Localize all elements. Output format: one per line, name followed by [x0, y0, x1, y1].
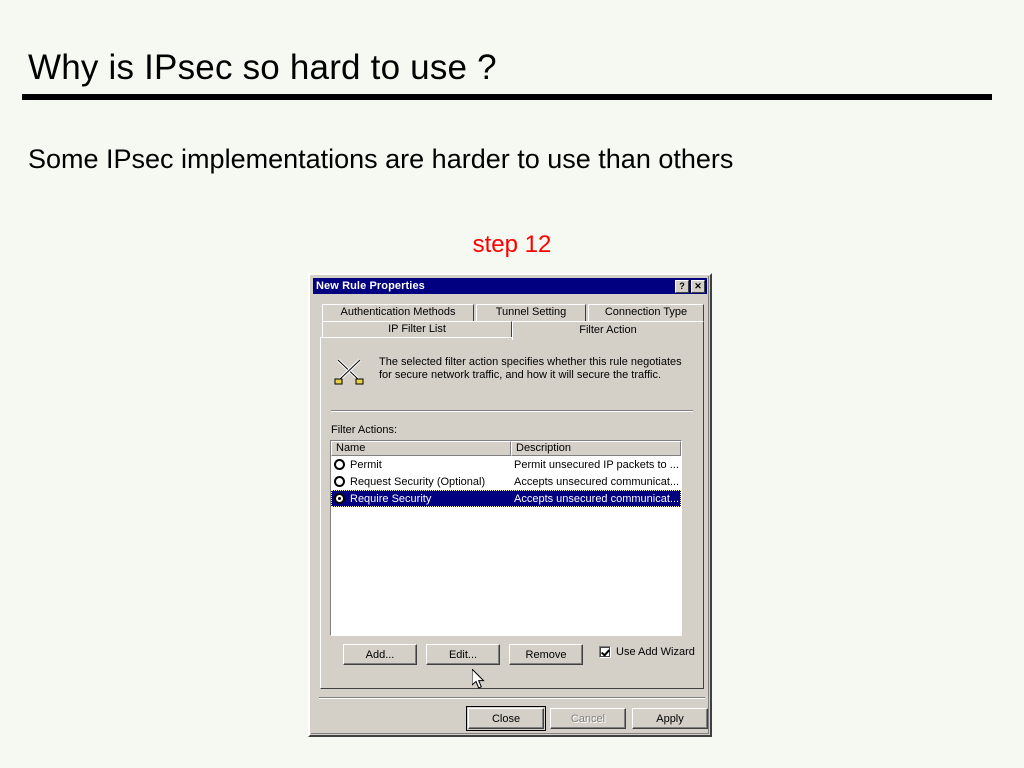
- tab-label: Connection Type: [605, 306, 687, 318]
- tab-filter-action[interactable]: Filter Action: [512, 321, 704, 340]
- description-text: The selected filter action specifies whe…: [379, 356, 682, 382]
- tab-label: IP Filter List: [388, 323, 446, 335]
- row-name-label: Request Security (Optional): [350, 476, 485, 488]
- description-area: The selected filter action specifies whe…: [333, 356, 693, 388]
- title-divider: [22, 94, 992, 100]
- cancel-button: Cancel: [550, 708, 626, 729]
- edit-button[interactable]: Edit...: [426, 644, 500, 665]
- row-name-cell: Require Security: [331, 493, 511, 505]
- row-name-label: Permit: [350, 459, 382, 471]
- checkbox-icon[interactable]: [599, 646, 611, 658]
- tab-ip-filter-list[interactable]: IP Filter List: [322, 321, 512, 338]
- row-name-cell: Request Security (Optional): [331, 476, 511, 488]
- tab-label: Tunnel Setting: [496, 306, 567, 318]
- description-line-1: The selected filter action specifies whe…: [379, 356, 682, 369]
- slide-subtitle: Some IPsec implementations are harder to…: [28, 144, 733, 175]
- table-row[interactable]: Request Security (Optional) Accepts unse…: [331, 473, 681, 490]
- tab-tunnel-setting[interactable]: Tunnel Setting: [476, 304, 586, 321]
- filter-actions-label: Filter Actions:: [331, 424, 397, 436]
- step-caption: step 12: [0, 231, 1024, 259]
- filter-action-tab-page: The selected filter action specifies whe…: [320, 337, 704, 689]
- column-header-name[interactable]: Name: [331, 441, 511, 456]
- tab-connection-type[interactable]: Connection Type: [588, 304, 704, 321]
- use-add-wizard-label: Use Add Wizard: [616, 646, 695, 658]
- remove-button[interactable]: Remove: [509, 644, 583, 665]
- page-title: Why is IPsec so hard to use ?: [28, 48, 497, 88]
- help-icon[interactable]: ?: [675, 280, 689, 293]
- add-button[interactable]: Add...: [343, 644, 417, 665]
- description-line-2: for secure network traffic, and how it w…: [379, 369, 682, 382]
- new-rule-properties-dialog: New Rule Properties ? ✕ Authentication M…: [308, 273, 712, 737]
- row-name-cell: Permit: [331, 459, 511, 471]
- filter-actions-listview[interactable]: Name Description Permit Permit unsecured…: [330, 440, 682, 636]
- listview-header: Name Description: [331, 441, 681, 456]
- dialog-footer-divider: [319, 697, 705, 699]
- close-button[interactable]: Close: [468, 708, 544, 729]
- table-row[interactable]: Require Security Accepts unsecured commu…: [331, 490, 681, 507]
- dialog-titlebar[interactable]: New Rule Properties ? ✕: [313, 278, 707, 294]
- tab-label: Filter Action: [579, 324, 636, 336]
- row-name-label: Require Security: [350, 493, 431, 505]
- radio-icon[interactable]: [334, 476, 345, 487]
- close-icon[interactable]: ✕: [691, 280, 705, 293]
- row-description-cell: Permit unsecured IP packets to ...: [511, 459, 681, 471]
- radio-icon[interactable]: [334, 459, 345, 470]
- dialog-title-text: New Rule Properties: [316, 280, 673, 292]
- row-description-cell: Accepts unsecured communicat...: [511, 493, 681, 505]
- crossed-swords-icon: [333, 356, 365, 388]
- apply-button[interactable]: Apply: [632, 708, 708, 729]
- radio-icon[interactable]: [334, 493, 345, 504]
- column-header-description[interactable]: Description: [511, 441, 681, 456]
- tab-label: Authentication Methods: [341, 306, 456, 318]
- tab-strip: Authentication Methods Tunnel Setting Co…: [320, 304, 704, 338]
- table-row[interactable]: Permit Permit unsecured IP packets to ..…: [331, 456, 681, 473]
- row-description-cell: Accepts unsecured communicat...: [511, 476, 681, 488]
- tab-authentication-methods[interactable]: Authentication Methods: [322, 304, 474, 321]
- section-divider: [331, 410, 693, 412]
- use-add-wizard-checkbox[interactable]: Use Add Wizard: [599, 646, 695, 658]
